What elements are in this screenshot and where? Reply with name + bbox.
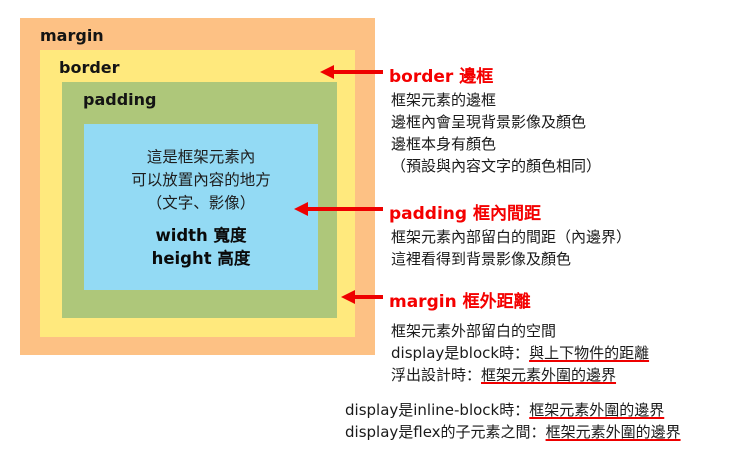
margin-annotation-body: 框架元素外部留白的空間 display是block時：與上下物件的距離 浮出設計… <box>391 320 649 386</box>
padding-annotation-body: 框架元素內部留白的間距（內邊界） 這裡看得到背景影像及顏色 <box>391 226 631 270</box>
margin-inline-block-prefix: display是inline-block時： <box>345 401 529 419</box>
margin-annotation-line-flex: display是flex的子元素之間：框架元素外圍的邊界 <box>345 421 681 443</box>
content-box: 這是框架元素內 可以放置內容的地方 （文字、影像） width 寬度 heigh… <box>84 124 318 290</box>
margin-box-label: margin <box>40 26 104 45</box>
border-arrow-shaft <box>332 70 383 74</box>
border-annotation-line-4: （預設與內容文字的顏色相同） <box>391 155 601 177</box>
content-line-3: （文字、影像） <box>84 192 318 215</box>
margin-extra-lines: display是inline-block時：框架元素外圍的邊界 display是… <box>345 399 681 443</box>
margin-block-underlined: 與上下物件的距離 <box>529 344 649 362</box>
border-arrow-icon <box>320 64 383 80</box>
margin-flex-underlined: 框架元素外圍的邊界 <box>546 423 681 441</box>
margin-arrow-shaft <box>353 295 383 299</box>
padding-box-label: padding <box>83 90 156 109</box>
border-box-label: border <box>59 58 120 77</box>
content-height-label: height 高度 <box>84 247 318 270</box>
margin-block-prefix: display是block時： <box>391 344 529 362</box>
margin-arrow-icon <box>341 289 383 305</box>
content-line-1: 這是框架元素內 <box>84 146 318 169</box>
border-annotation-line-2: 邊框內會呈現背景影像及顏色 <box>391 111 601 133</box>
margin-annotation-title: margin 框外距離 <box>389 287 531 312</box>
border-box: border padding 這是框架元素內 可以放置內容的地方 （文字、影像）… <box>40 50 355 337</box>
margin-float-prefix: 浮出設計時： <box>391 366 481 384</box>
margin-annotation-line-block: display是block時：與上下物件的距離 <box>391 342 649 364</box>
padding-annotation-title: padding 框內間距 <box>389 199 541 224</box>
content-width-label: width 寬度 <box>84 224 318 247</box>
content-line-2: 可以放置內容的地方 <box>84 169 318 192</box>
diagram-canvas: margin border padding 這是框架元素內 可以放置內容的地方 … <box>0 0 750 461</box>
border-annotation-line-3: 邊框本身有顏色 <box>391 133 601 155</box>
content-description: 這是框架元素內 可以放置內容的地方 （文字、影像） <box>84 146 318 215</box>
padding-box: padding 這是框架元素內 可以放置內容的地方 （文字、影像） width … <box>62 82 337 318</box>
margin-annotation-line-1: 框架元素外部留白的空間 <box>391 320 649 342</box>
margin-annotation-line-float: 浮出設計時：框架元素外圍的邊界 <box>391 364 649 386</box>
margin-flex-prefix: display是flex的子元素之間： <box>345 423 546 441</box>
margin-float-underlined: 框架元素外圍的邊界 <box>481 366 616 384</box>
border-annotation-body: 框架元素的邊框 邊框內會呈現背景影像及顏色 邊框本身有顏色 （預設與內容文字的顏… <box>391 89 601 177</box>
content-dimensions: width 寬度 height 高度 <box>84 224 318 270</box>
padding-annotation-line-1: 框架元素內部留白的間距（內邊界） <box>391 226 631 248</box>
border-annotation-line-1: 框架元素的邊框 <box>391 89 601 111</box>
border-annotation-title: border 邊框 <box>389 62 493 87</box>
padding-arrow-shaft <box>306 207 383 211</box>
padding-annotation-line-2: 這裡看得到背景影像及顏色 <box>391 248 631 270</box>
margin-annotation-line-inline-block: display是inline-block時：框架元素外圍的邊界 <box>345 399 681 421</box>
padding-arrow-icon <box>294 201 383 217</box>
margin-inline-block-underlined: 框架元素外圍的邊界 <box>529 401 664 419</box>
